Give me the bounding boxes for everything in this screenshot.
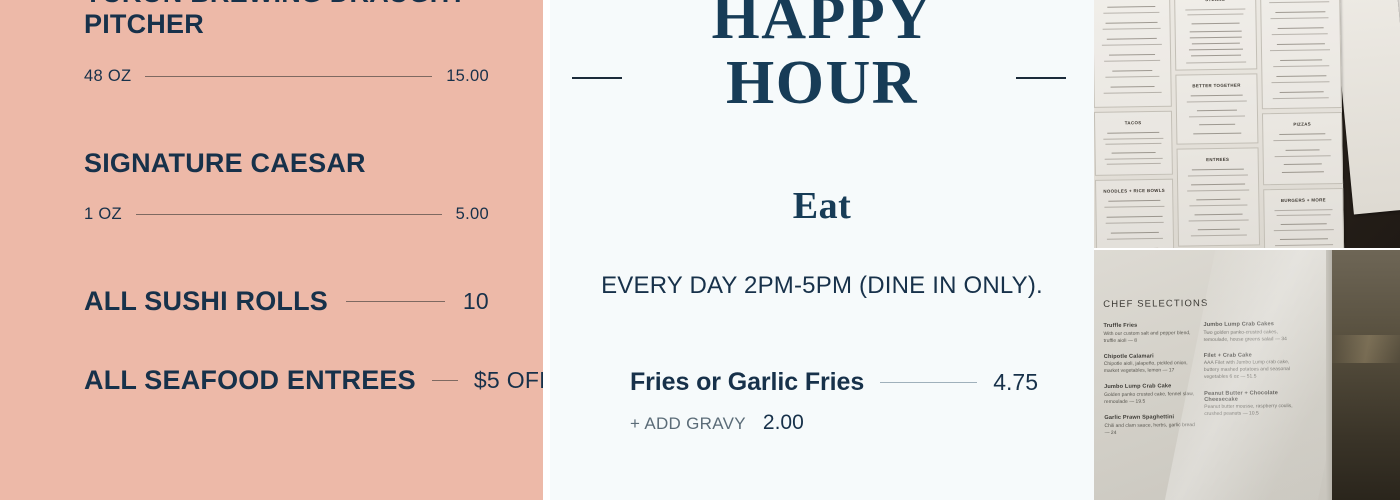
happy-hour-heading: HAPPY HOUR [550, 0, 1094, 116]
chef-item-desc: Peanut butter mousse, raspberry coulis, … [1204, 403, 1304, 418]
chef-item-name: Peanut Butter + Chocolate Cheesecake [1204, 389, 1304, 402]
menu-section-box: NOODLES + RICE BOWLS [1095, 179, 1174, 248]
menu-section-heading: TACOS [1095, 120, 1171, 126]
chef-item-name: Truffle Fries [1103, 322, 1195, 329]
chef-menu-item: Filet + Crab Cake AAA Filet with Jumbo L… [1204, 352, 1304, 382]
chef-item-desc: Chili and clam sauce, herbs, garlic brea… [1104, 422, 1196, 437]
leader-line [346, 301, 445, 302]
happy-hour-hours: EVERY DAY 2PM-5PM (DINE IN ONLY). [550, 272, 1094, 300]
drink-price: 5.00 [456, 205, 489, 224]
chef-column-right: Jumbo Lump Crab Cakes Two golden panko-c… [1203, 321, 1304, 427]
menu-section-box: ENTREES [1177, 147, 1261, 246]
happy-hour-title-line1: HAPPY [550, 0, 1094, 51]
chef-selections-sheet: CHEF SELECTIONS Truffle Fries With our c… [1094, 250, 1335, 500]
food-addon-price: 2.00 [763, 411, 804, 435]
chef-menu-item: Jumbo Lump Crab Cake Golden panko cruste… [1104, 384, 1196, 407]
menu-photo-bottom: CHEF SELECTIONS Truffle Fries With our c… [1094, 250, 1400, 500]
photo-column: TACOS NOODLES + RICE BOWLS [1094, 0, 1400, 500]
menu-section-box: PIZZAS [1262, 112, 1343, 185]
chef-menu-item: Chipotle Calamari Chipotle aioli, jalape… [1104, 353, 1196, 376]
chef-item-name: Chipotle Calamari [1104, 353, 1196, 360]
combo-title: ALL SUSHI ROLLS [84, 286, 328, 317]
menu-section-heading: BETTER TOGETHER [1177, 82, 1257, 88]
happy-hour-menu-screen: YUKON BREWING DRAUGHT PITCHER 48 OZ 15.0… [0, 0, 1400, 500]
drink-size-label: 1 OZ [84, 205, 122, 224]
chef-item-desc: Two golden panko-crusted cakes, remoulad… [1203, 328, 1303, 343]
menu-section-heading: STEAKS [1175, 0, 1255, 3]
chef-item-name: Jumbo Lump Crab Cake [1104, 384, 1196, 391]
drinks-panel: YUKON BREWING DRAUGHT PITCHER 48 OZ 15.0… [0, 0, 543, 500]
food-addon-row: + ADD GRAVY 2.00 [630, 411, 1038, 435]
menu-section-heading: BURGERS + MORE [1264, 197, 1342, 203]
chef-item-desc: AAA Filet with Jumbo Lump crab cake, but… [1204, 359, 1304, 381]
menu-sheet-main: TACOS NOODLES + RICE BOWLS [1094, 0, 1344, 248]
decorative-dash-left [572, 77, 622, 79]
menu-photo-top: TACOS NOODLES + RICE BOWLS [1094, 0, 1400, 248]
drink-price: 15.00 [446, 67, 489, 86]
drink-price-row: 1 OZ 5.00 [84, 205, 489, 224]
chef-selections-title: CHEF SELECTIONS [1103, 298, 1208, 310]
decorative-dash-right [1016, 77, 1066, 79]
chef-menu-item: Garlic Prawn Spaghettini Chili and clam … [1104, 414, 1196, 437]
combo-title: ALL SEAFOOD ENTREES [84, 365, 416, 396]
chef-column-left: Truffle Fries With our custom salt and p… [1103, 322, 1196, 446]
food-items-list: Fries or Garlic Fries 4.75 + ADD GRAVY 2… [630, 368, 1038, 435]
menu-section-box: BETTER TOGETHER [1175, 73, 1258, 144]
eat-section-heading: Eat [550, 184, 1094, 228]
leader-line [145, 76, 432, 77]
leader-line [432, 380, 458, 381]
menu-section-heading: PIZZAS [1263, 121, 1341, 127]
menu-section-box [1260, 0, 1342, 109]
chef-item-desc: Chipotle aioli, jalapeño, pickled onion,… [1104, 360, 1196, 375]
food-item-name: Fries or Garlic Fries [630, 368, 864, 397]
combo-price: $5 OFF [474, 367, 543, 394]
menu-section-box: TACOS [1094, 111, 1173, 176]
chef-item-name: Filet + Crab Cake [1204, 352, 1304, 359]
chef-item-desc: Golden panko crusted cake, fennel slaw, … [1104, 391, 1196, 406]
menu-section-box: STEAKS [1174, 0, 1257, 71]
food-addon-label: + ADD GRAVY [630, 414, 746, 434]
chef-item-name: Jumbo Lump Crab Cakes [1203, 321, 1303, 328]
drink-price-row: 48 OZ 15.00 [84, 67, 489, 86]
chef-item-name: Garlic Prawn Spaghettini [1104, 414, 1196, 421]
food-item-price: 4.75 [993, 369, 1038, 396]
menu-section-box [1094, 0, 1172, 108]
menu-section-heading: NOODLES + RICE BOWLS [1096, 188, 1172, 194]
drink-title: YUKON BREWING DRAUGHT PITCHER [84, 0, 489, 41]
leader-line [880, 382, 977, 383]
drink-item: SIGNATURE CAESAR 1 OZ 5.00 [84, 148, 489, 224]
happy-hour-title-line2: HOUR [550, 51, 1094, 116]
happy-hour-panel: HAPPY HOUR Eat EVERY DAY 2PM-5PM (DINE I… [550, 0, 1094, 500]
table-surface [1332, 250, 1400, 500]
chef-menu-item: Peanut Butter + Chocolate Cheesecake Pea… [1204, 389, 1304, 418]
menu-section-heading: ENTREES [1178, 156, 1258, 162]
combo-price: 10 [463, 288, 489, 315]
drink-size-label: 48 OZ [84, 67, 131, 86]
combo-item: ALL SUSHI ROLLS 10 [84, 286, 489, 317]
chef-menu-item: Truffle Fries With our custom salt and p… [1103, 322, 1195, 345]
leader-line [136, 214, 442, 215]
chef-item-desc: With our custom salt and pepper blend, t… [1103, 330, 1195, 345]
menu-section-box: BURGERS + MORE [1263, 188, 1344, 248]
food-item-row: Fries or Garlic Fries 4.75 [630, 368, 1038, 397]
combo-item: ALL SEAFOOD ENTREES $5 OFF [84, 365, 489, 396]
chef-menu-item: Jumbo Lump Crab Cakes Two golden panko-c… [1203, 321, 1303, 344]
drink-title: SIGNATURE CAESAR [84, 148, 489, 179]
drink-item: YUKON BREWING DRAUGHT PITCHER 48 OZ 15.0… [84, 0, 489, 86]
